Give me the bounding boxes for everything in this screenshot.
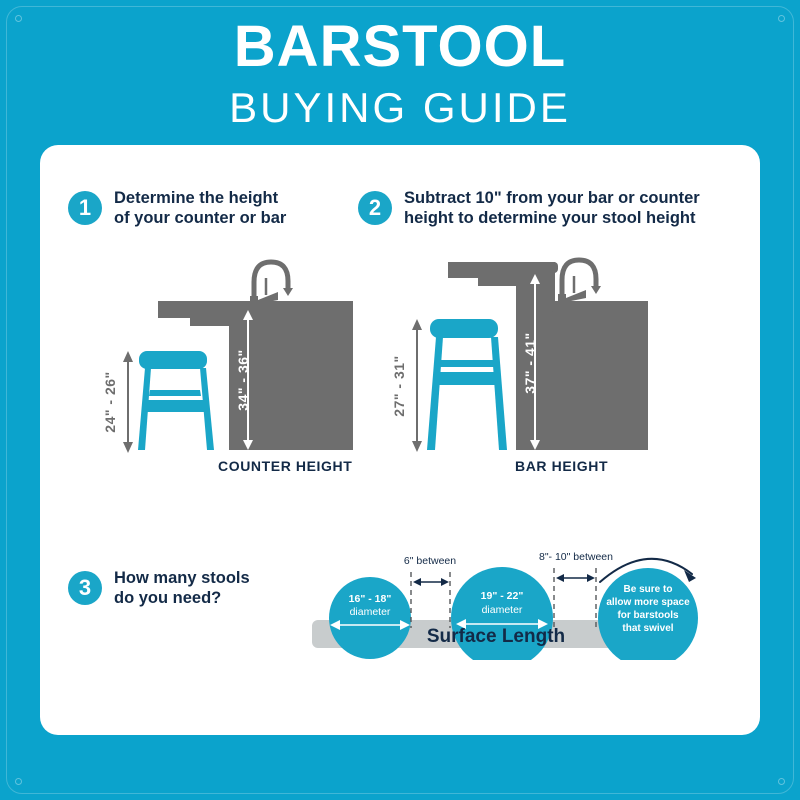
bar-stool-dimension-arrow bbox=[412, 319, 422, 452]
swivel-note-line-1: Be sure to bbox=[624, 584, 673, 595]
step-1-header: 1 Determine the height of your counter o… bbox=[68, 188, 286, 228]
gap-1-label: 6" between bbox=[404, 555, 456, 567]
stool-spacing-diagram: 16" - 18" diameter 6" between bbox=[300, 520, 700, 660]
stool-2-unit-label: diameter bbox=[482, 604, 523, 616]
counter-height-illustration: 34" - 36" 24" - 26" bbox=[95, 250, 385, 480]
swivel-note-line-4: that swivel bbox=[622, 623, 673, 634]
stool-2-size-label: 19" - 22" bbox=[481, 590, 524, 602]
swivel-note-line-2: allow more space bbox=[606, 597, 690, 608]
step-2-number-badge: 2 bbox=[358, 191, 392, 225]
title-block: BARSTOOL BUYING GUIDE bbox=[0, 18, 800, 135]
step-3-number-badge: 3 bbox=[68, 571, 102, 605]
infographic-root: BARSTOOL BUYING GUIDE 1 Determine the he… bbox=[0, 0, 800, 800]
gap-2-arrow bbox=[556, 574, 595, 582]
bar-stool-icon bbox=[427, 319, 507, 450]
swivel-note-line-3: for barstools bbox=[617, 610, 679, 621]
bar-surface-dimension-label: 37" - 41" bbox=[522, 332, 538, 393]
counter-silhouette bbox=[158, 301, 353, 450]
bar-silhouette bbox=[448, 262, 648, 450]
bar-height-caption: BAR HEIGHT bbox=[515, 458, 608, 474]
step-2-header: 2 Subtract 10" from your bar or counter … bbox=[358, 188, 700, 228]
counter-height-diagram: 34" - 36" 24" - 26" bbox=[95, 250, 385, 480]
page-title: BARSTOOL bbox=[0, 18, 800, 76]
step-1-number-badge: 1 bbox=[68, 191, 102, 225]
counter-stool-icon bbox=[138, 351, 214, 450]
bar-height-illustration: 37" - 41" 27" - 31" bbox=[390, 248, 690, 480]
stool-circle-1 bbox=[329, 577, 411, 659]
counter-surface-dimension-label: 34" - 36" bbox=[235, 349, 251, 410]
bar-height-diagram: 37" - 41" 27" - 31" bbox=[390, 248, 690, 480]
faucet-icon bbox=[558, 260, 601, 302]
bar-stool-dimension-label: 27" - 31" bbox=[391, 355, 407, 416]
counter-height-caption: COUNTER HEIGHT bbox=[218, 458, 352, 474]
stool-1-size-label: 16" - 18" bbox=[349, 593, 392, 605]
gap-2-label: 8"- 10" between bbox=[539, 551, 613, 563]
screw-hole-bottom-left-icon bbox=[15, 778, 22, 785]
surface-length-label: Surface Length bbox=[427, 626, 565, 647]
counter-stool-dimension-label: 24" - 26" bbox=[102, 371, 118, 432]
step-3-label: How many stools do you need? bbox=[114, 568, 250, 608]
faucet-icon bbox=[250, 262, 293, 304]
gap-1-arrow bbox=[413, 578, 449, 586]
step-1-label: Determine the height of your counter or … bbox=[114, 188, 286, 228]
page-subtitle: BUYING GUIDE bbox=[0, 82, 800, 135]
step-3-header: 3 How many stools do you need? bbox=[68, 568, 250, 608]
stool-1-unit-label: diameter bbox=[350, 606, 391, 618]
step-2-label: Subtract 10" from your bar or counter he… bbox=[404, 188, 700, 228]
screw-hole-bottom-right-icon bbox=[778, 778, 785, 785]
stool-spacing-illustration: 16" - 18" diameter 6" between bbox=[300, 520, 700, 660]
counter-stool-dimension-arrow bbox=[123, 351, 133, 453]
